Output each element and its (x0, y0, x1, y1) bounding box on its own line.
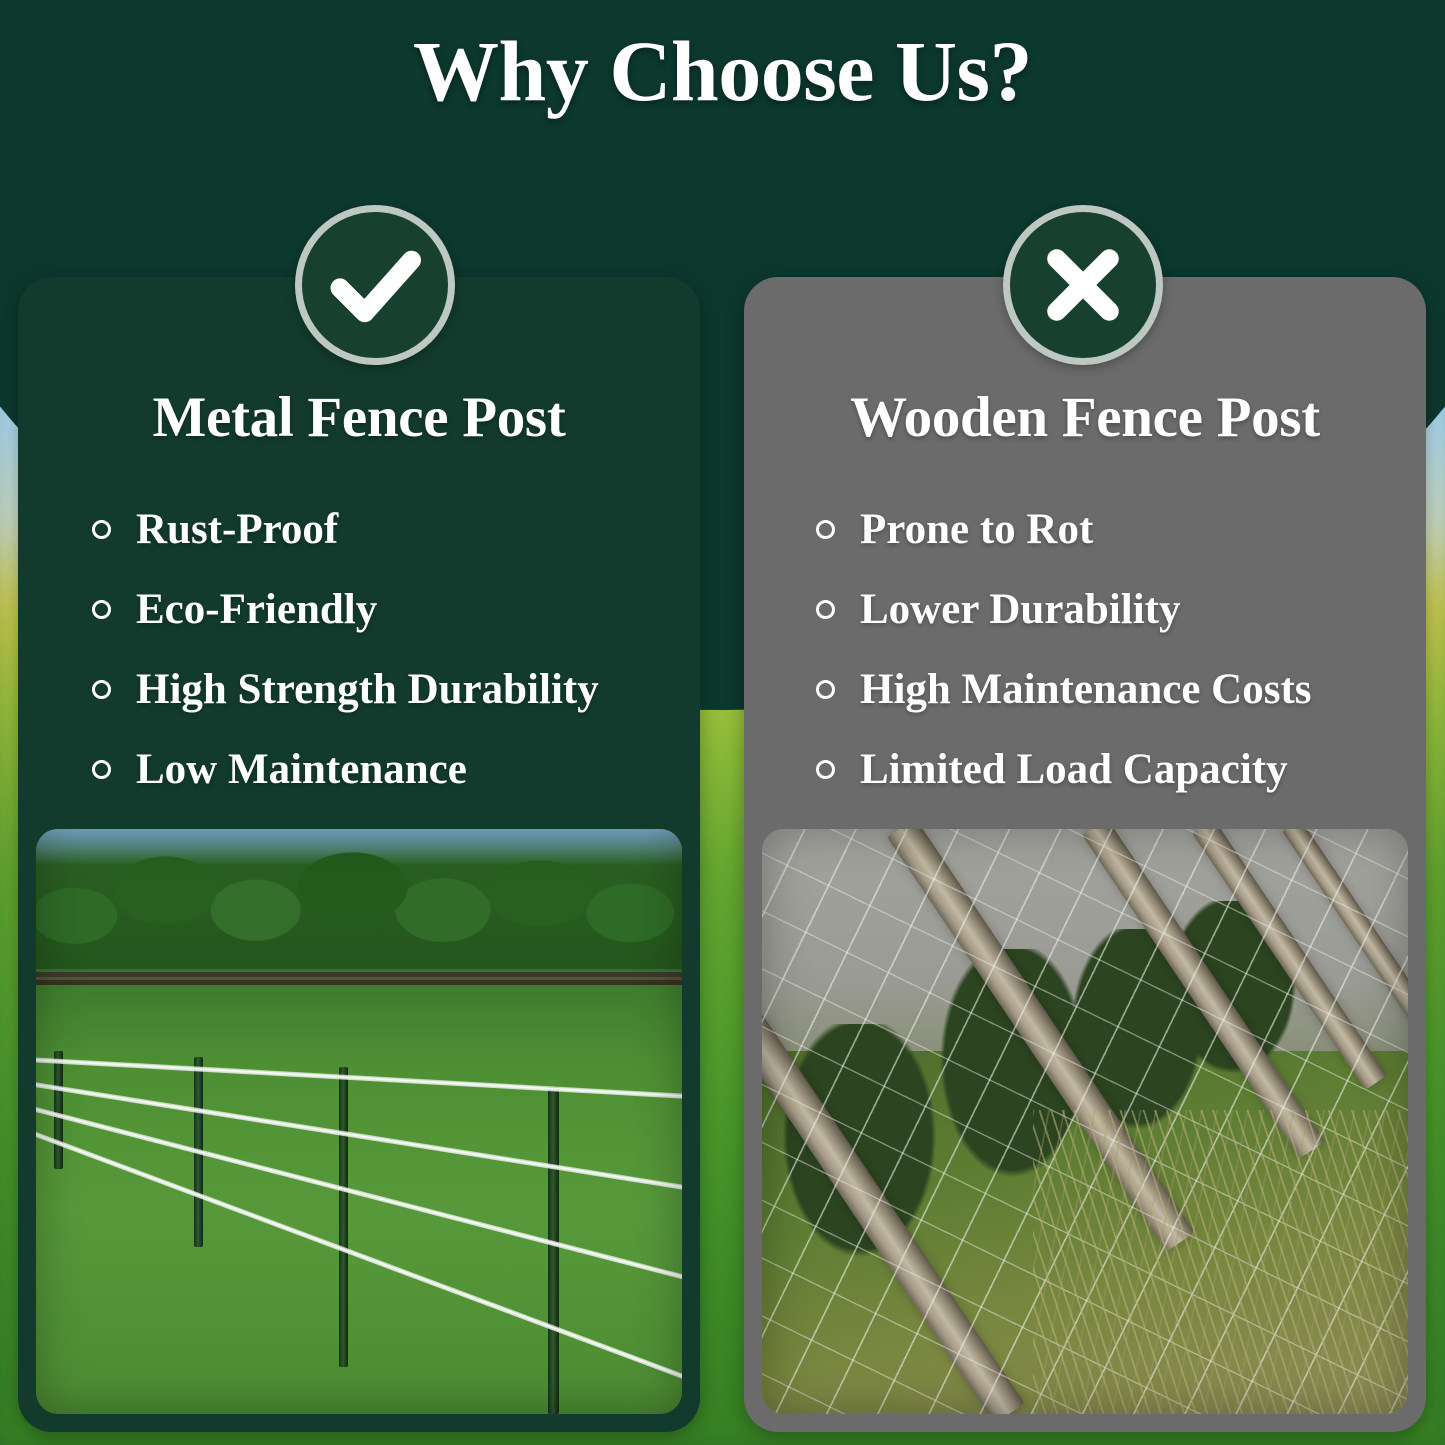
wooden-drawbacks-list: Prone to Rot Lower Durability High Maint… (816, 489, 1416, 809)
infographic-page: Why Choose Us? Metal Fence Post Rust-Pro… (0, 0, 1445, 1445)
cross-badge (1003, 205, 1163, 365)
list-item: High Maintenance Costs (816, 649, 1416, 729)
cross-icon (1010, 212, 1156, 358)
metal-post (339, 1067, 348, 1367)
metal-fence-photo (36, 829, 682, 1414)
circle-bullet-icon (92, 520, 111, 539)
circle-bullet-icon (92, 600, 111, 619)
check-badge (295, 205, 455, 365)
tree-line (36, 829, 682, 969)
fence-wire (36, 1081, 682, 1199)
drawback-label: High Maintenance Costs (860, 668, 1312, 711)
circle-bullet-icon (816, 520, 835, 539)
drawback-label: Limited Load Capacity (860, 748, 1288, 791)
benefit-label: High Strength Durability (136, 668, 599, 711)
list-item: Low Maintenance (92, 729, 692, 809)
drawback-label: Lower Durability (860, 588, 1181, 631)
metal-post (54, 1051, 63, 1169)
metal-fence-post-card: Metal Fence Post Rust-Proof Eco-Friendly… (18, 277, 700, 1432)
metal-post (548, 1087, 559, 1414)
benefit-label: Rust-Proof (136, 508, 338, 551)
metal-card-title: Metal Fence Post (18, 389, 700, 446)
list-item: Eco-Friendly (92, 569, 692, 649)
list-item: Prone to Rot (816, 489, 1416, 569)
metal-benefits-list: Rust-Proof Eco-Friendly High Strength Du… (92, 489, 692, 809)
distant-fence-line (36, 972, 682, 985)
circle-bullet-icon (816, 680, 835, 699)
list-item: High Strength Durability (92, 649, 692, 729)
benefit-label: Low Maintenance (136, 748, 467, 791)
list-item: Lower Durability (816, 569, 1416, 649)
drawback-label: Prone to Rot (860, 508, 1093, 551)
circle-bullet-icon (816, 600, 835, 619)
dry-weeds (1033, 1110, 1408, 1414)
benefit-label: Eco-Friendly (136, 588, 377, 631)
list-item: Limited Load Capacity (816, 729, 1416, 809)
circle-bullet-icon (92, 760, 111, 779)
check-icon (302, 212, 448, 358)
circle-bullet-icon (816, 760, 835, 779)
wooden-fence-post-card: Wooden Fence Post Prone to Rot Lower Dur… (744, 277, 1426, 1432)
circle-bullet-icon (92, 680, 111, 699)
wooden-fence-photo (762, 829, 1408, 1414)
page-title: Why Choose Us? (0, 28, 1445, 114)
wooden-card-title: Wooden Fence Post (744, 389, 1426, 446)
fence-wire (36, 1057, 682, 1101)
list-item: Rust-Proof (92, 489, 692, 569)
